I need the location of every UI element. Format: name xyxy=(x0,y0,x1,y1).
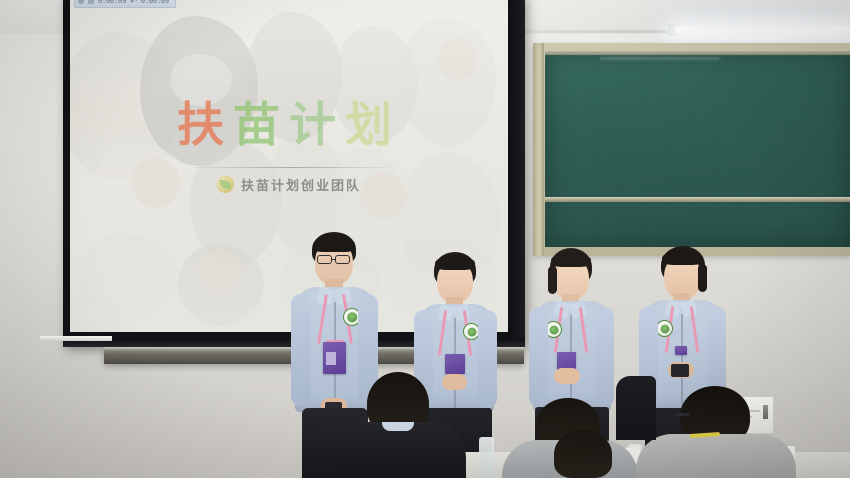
audience-3 xyxy=(636,386,798,478)
slide-divider xyxy=(185,167,400,168)
head-back xyxy=(554,430,612,478)
arm-right xyxy=(478,310,497,408)
arm-left xyxy=(529,307,548,407)
hair-front xyxy=(551,253,591,267)
shirt-collar xyxy=(382,422,414,431)
id-card-badge xyxy=(675,346,687,355)
chalkboard-slide-rail xyxy=(545,197,850,202)
slide-title-char-4: 划 xyxy=(345,102,401,149)
hair-side xyxy=(698,264,707,292)
slide-title: 扶苗计划 xyxy=(70,102,508,149)
id-card-badge xyxy=(445,354,465,374)
classroom-presentation-photo: 扶苗计划 扶苗计划创业团队 0:00:09 ↶ 0:00:09 xyxy=(0,0,850,478)
glasses-icon xyxy=(317,255,332,264)
hair-front xyxy=(435,256,475,270)
hair-side xyxy=(548,266,557,294)
hair-front xyxy=(662,251,703,265)
chalkboard-texture xyxy=(545,51,850,247)
slide-title-char-3: 计 xyxy=(289,102,345,149)
held-object xyxy=(671,364,689,377)
glasses-icon-right xyxy=(335,255,350,264)
sprout-logo-icon xyxy=(217,176,234,193)
id-card-photo xyxy=(326,352,336,365)
slide-subtitle-row: 扶苗计划创业团队 xyxy=(70,175,508,194)
record-icon[interactable] xyxy=(78,0,84,4)
fluorescent-tube-light-icon xyxy=(675,26,850,34)
hair-front xyxy=(313,237,355,252)
recorder-elapsed: 0:00:09 xyxy=(98,0,126,5)
water-bottle-1 xyxy=(479,437,494,478)
screen-mount-rail xyxy=(40,336,112,341)
audience-5 xyxy=(548,430,618,478)
torso xyxy=(636,434,796,478)
recorder-remaining: 0:00:09 xyxy=(141,0,169,5)
glasses-temple-icon xyxy=(674,413,690,416)
arm-right xyxy=(595,307,614,407)
audience-1 xyxy=(330,372,470,478)
torso xyxy=(616,376,656,440)
slide-title-char-1: 扶 xyxy=(177,102,233,149)
chalk-smudge xyxy=(600,57,720,60)
stop-icon[interactable] xyxy=(88,0,94,4)
slide-subtitle: 扶苗计划创业团队 xyxy=(241,175,361,194)
undo-icon[interactable]: ↶ xyxy=(130,0,137,6)
glasses-bridge xyxy=(332,259,335,260)
arm-left xyxy=(291,294,311,406)
hands xyxy=(554,368,580,384)
audience-4 xyxy=(616,376,656,440)
projector-screen-frame-right xyxy=(507,0,525,346)
slide-title-char-2: 苗 xyxy=(233,102,289,149)
chalkboard xyxy=(545,51,850,247)
screen-recorder-toolbar[interactable]: 0:00:09 ↶ 0:00:09 xyxy=(74,0,176,8)
chalkboard-top-rail xyxy=(545,51,850,55)
chalkboard-side-post xyxy=(533,43,544,256)
team-emblem-badge xyxy=(656,320,673,337)
